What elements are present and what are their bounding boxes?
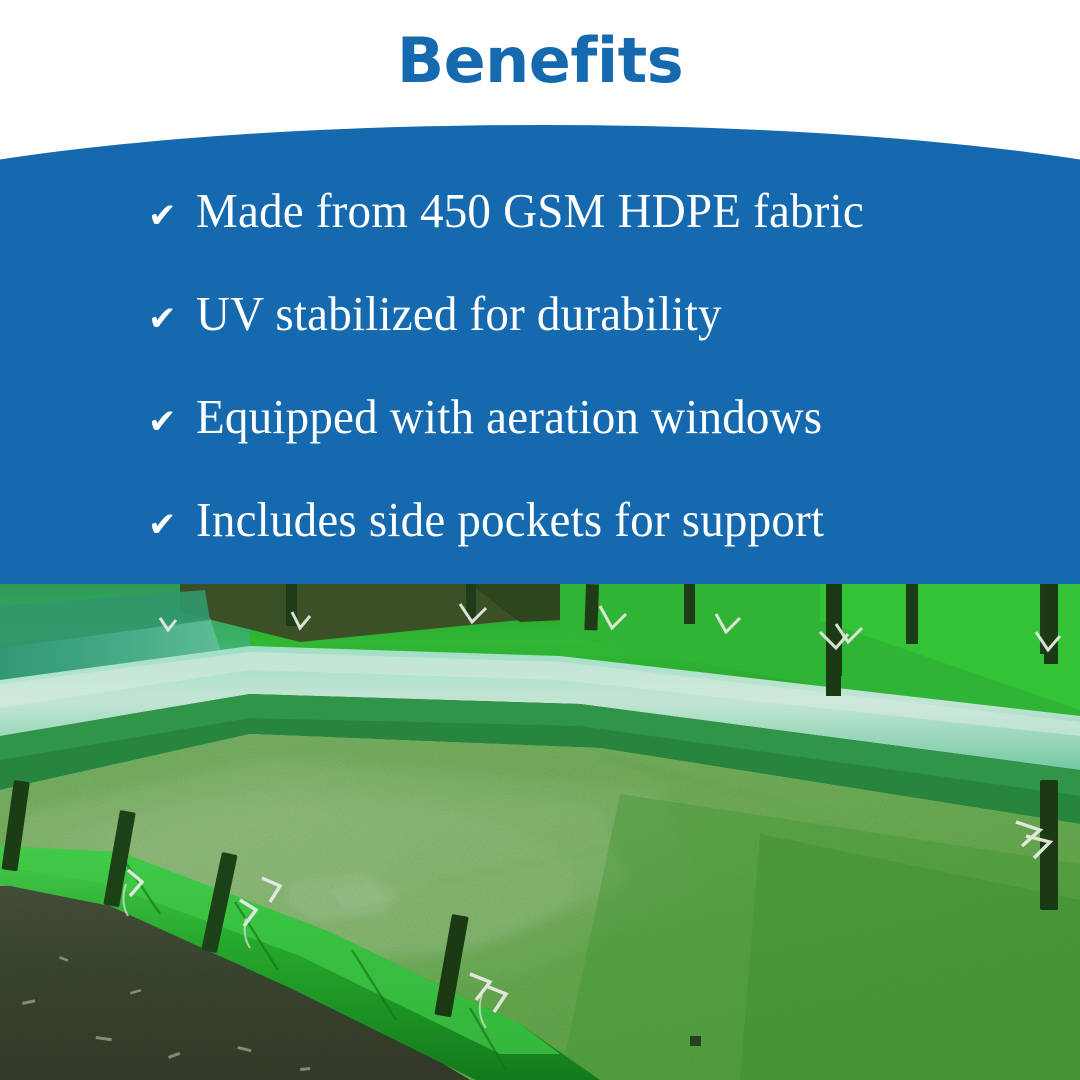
benefit-item-4: ✔ Includes side pockets for support (0, 495, 1080, 598)
benefit-item-label: UV stabilized for durability (196, 289, 1045, 338)
checkmark-icon: ✔ (148, 302, 196, 336)
header-area: Benefits (0, 0, 1080, 125)
checkmark-icon: ✔ (148, 199, 196, 233)
benefit-list: ✔ Made from 450 GSM HDPE fabric ✔ UV sta… (0, 186, 1080, 598)
benefits-poster: Benefits ✔ Made from 450 GSM HDPE fabric… (0, 0, 1080, 1080)
benefit-item-label: Equipped with aeration windows (196, 392, 1045, 441)
benefit-item-label: Includes side pockets for support (196, 495, 1045, 544)
benefit-item-3: ✔ Equipped with aeration windows (0, 392, 1080, 495)
benefit-item-1: ✔ Made from 450 GSM HDPE fabric (0, 186, 1080, 289)
benefit-item-2: ✔ UV stabilized for durability (0, 289, 1080, 392)
benefit-item-label: Made from 450 GSM HDPE fabric (196, 186, 1045, 235)
checkmark-icon: ✔ (148, 508, 196, 542)
fish-pond-photo (0, 584, 1080, 1080)
page-title: Benefits (0, 30, 1080, 92)
checkmark-icon: ✔ (148, 405, 196, 439)
product-photo (0, 584, 1080, 1080)
